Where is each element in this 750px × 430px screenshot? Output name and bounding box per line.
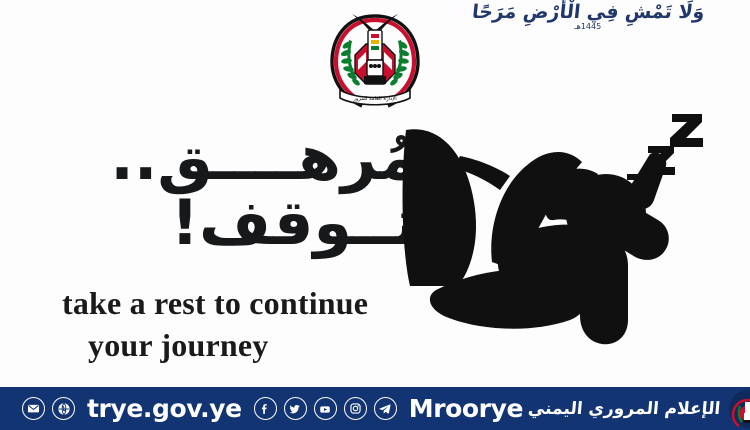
email-icon[interactable] <box>22 397 45 420</box>
brand-arabic-wordmark: الإعلام المروري اليمني <box>527 399 721 419</box>
youtube-icon[interactable] <box>314 397 337 420</box>
sleep-zzz-marks <box>626 114 703 197</box>
facebook-icon[interactable] <box>254 397 277 420</box>
telegram-icon[interactable] <box>374 397 397 420</box>
emblem-caption: الإدارة العامة للمرور <box>352 96 397 102</box>
globe-icon[interactable] <box>52 397 75 420</box>
footer-bar: trye.gov.ye <box>0 384 750 430</box>
verse-text: وَلَا تَمْشِ فِي الْأَرْضِ مَرَحًا <box>470 2 705 24</box>
instagram-icon[interactable] <box>344 397 367 420</box>
poster-canvas: الإدارة العامة للمرور وَلَا تَمْشِ فِي ا… <box>0 0 750 430</box>
sleeping-driver-illustration <box>400 72 740 372</box>
arabic-headline: مُرهــــق.. تــوقف! <box>58 128 418 254</box>
headline-line-2: تــوقف! <box>58 193 418 254</box>
twitter-icon[interactable] <box>284 397 307 420</box>
social-handle[interactable]: Mroorye <box>409 396 523 421</box>
quran-verse-calligraphy: وَلَا تَمْشِ فِي الْأَرْضِ مَرَحًا 1445ه… <box>472 2 705 31</box>
website-url[interactable]: trye.gov.ye <box>87 396 242 421</box>
headline-line-1: مُرهــــق.. <box>58 128 418 189</box>
traffic-media-badge-icon <box>728 389 750 429</box>
footer-left-group: trye.gov.ye <box>0 396 528 421</box>
footer-right-group: الإعلام المروري اليمني <box>528 389 750 429</box>
